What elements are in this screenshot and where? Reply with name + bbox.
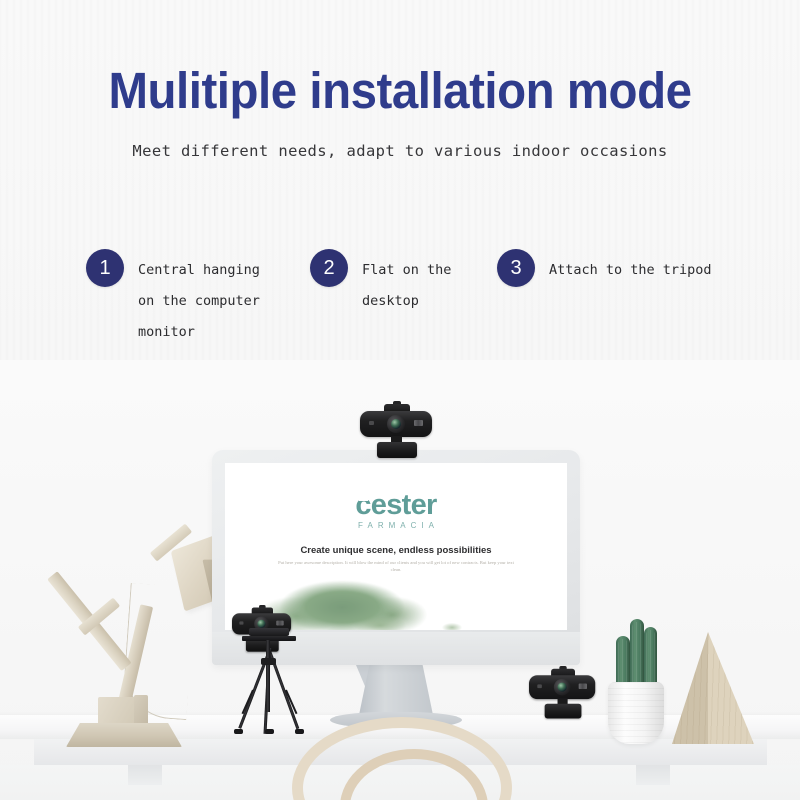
website-logo-tagline: FARMACIA <box>225 521 567 530</box>
page-title: Mulitiple installation mode <box>28 62 772 120</box>
website-small-shrub-image <box>439 620 465 630</box>
webcam-microphone-left <box>537 684 542 688</box>
webcam-mount-foot <box>545 704 582 719</box>
feature-item-2: 2 Flat on the desktop <box>310 249 490 317</box>
feature-badge-1: 1 <box>86 249 124 287</box>
tripod-head <box>249 628 289 636</box>
webcam-mount-foot <box>377 442 417 458</box>
monitor-neck-face <box>359 665 433 715</box>
feature-item-3: 3 Attach to the tripod <box>497 249 777 287</box>
cactus-stem-center <box>630 619 644 691</box>
webcam-lens <box>257 620 265 628</box>
page-subtitle: Meet different needs, adapt to various i… <box>0 142 800 160</box>
plant-pot <box>608 682 664 744</box>
logo-c-mark: cester <box>355 489 436 522</box>
feature-badge-2: 2 <box>310 249 348 287</box>
product-scene-photo: cester FARMACIA Create unique scene, end… <box>0 360 800 800</box>
webcam-microphone-right <box>414 420 423 426</box>
website-headline: Create unique scene, endless possibiliti… <box>225 545 567 556</box>
website-shrub-image <box>345 610 415 630</box>
website-logo: cester <box>225 489 567 522</box>
feature-label-1: Central hanging on the computer monitor <box>138 255 260 348</box>
feature-item-1: 1 Central hanging on the computer monito… <box>86 249 316 348</box>
tripod-foot-center <box>265 729 274 734</box>
installation-modes-list: 1 Central hanging on the computer monito… <box>0 249 800 359</box>
feature-label-3: Attach to the tripod <box>549 255 712 286</box>
tripod-center-column <box>266 640 270 712</box>
webcam-microphone-right <box>276 621 283 626</box>
webcam-microphone-left <box>369 421 374 425</box>
tripod-foot-right <box>295 729 304 734</box>
desk-leg-left <box>128 765 162 785</box>
webcam-lens <box>558 683 567 692</box>
feature-badge-3: 3 <box>497 249 535 287</box>
product-feature-banner: Mulitiple installation mode Meet differe… <box>0 0 800 800</box>
tripod-foot-left <box>234 729 243 734</box>
desk-leg-right <box>636 765 670 785</box>
lamp-base-plate <box>66 723 182 747</box>
monitor-screen: cester FARMACIA Create unique scene, end… <box>225 463 567 630</box>
webcam-lens <box>391 419 401 429</box>
feature-label-2: Flat on the desktop <box>362 255 451 317</box>
lamp-base-block-side <box>134 695 148 727</box>
webcam-microphone-left <box>239 621 243 624</box>
webcam-microphone-right <box>579 683 587 689</box>
tripod-collar <box>261 658 276 665</box>
